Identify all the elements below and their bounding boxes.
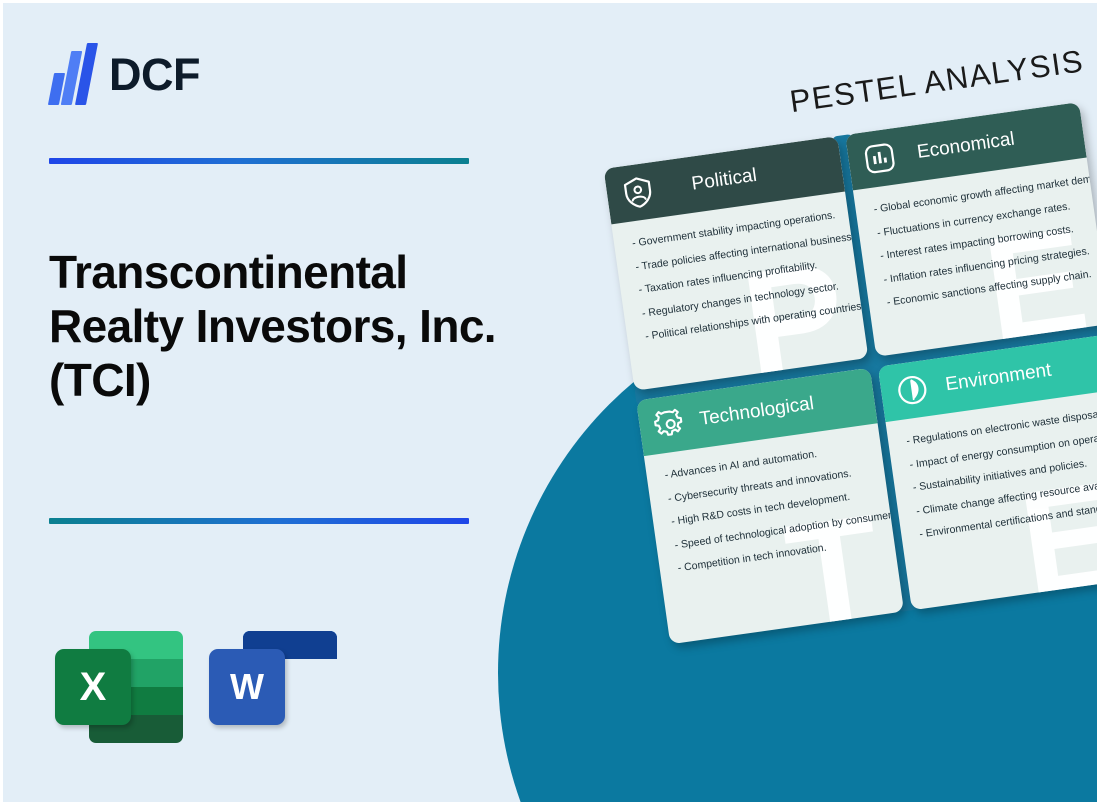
- download-icons: X W: [55, 623, 337, 751]
- pestel-graphic: PESTEL ANALYSIS Political P Government s…: [533, 0, 1100, 682]
- pestel-card-technological[interactable]: Technological T Advances in AI and autom…: [636, 368, 904, 644]
- pestel-card-environment[interactable]: Environment E Regulations on electronic …: [878, 334, 1100, 610]
- card-bullets: Advances in AI and automation. Cybersecu…: [660, 441, 881, 576]
- brand-logo-text: DCF: [109, 52, 200, 97]
- word-file-icon[interactable]: W: [209, 623, 337, 751]
- gear-icon: [652, 405, 690, 443]
- leaf-circle-icon: [893, 371, 931, 409]
- divider-bottom: [49, 518, 469, 524]
- page-title: Transcontinental Realty Investors, Inc. …: [49, 246, 519, 407]
- excel-letter: X: [55, 649, 131, 725]
- dcf-bars-icon: [49, 43, 95, 105]
- card-body: E Regulations on electronic waste dispos…: [886, 389, 1100, 610]
- pestel-card-political[interactable]: Political P Government stability impacti…: [604, 136, 869, 391]
- divider-top: [49, 158, 469, 164]
- pestel-card-economical[interactable]: Economical E Global economic growth affe…: [845, 102, 1100, 357]
- page-root: DCF Transcontinental Realty Investors, I…: [0, 0, 1100, 805]
- card-bullets: Regulations on electronic waste disposal…: [902, 407, 1100, 542]
- word-letter: W: [209, 649, 285, 725]
- brand-logo[interactable]: DCF: [49, 43, 200, 105]
- card-body: P Government stability impacting operati…: [611, 192, 868, 391]
- card-body: T Advances in AI and automation. Cyberse…: [644, 423, 904, 644]
- bar-chart-icon: [861, 139, 899, 177]
- card-bullets: Global economic growth affecting market …: [869, 175, 1090, 310]
- shield-person-icon: [619, 173, 657, 211]
- excel-file-icon[interactable]: X: [55, 623, 183, 751]
- card-body: E Global economic growth affecting marke…: [853, 158, 1100, 357]
- card-bullets: Government stability impacting operation…: [627, 209, 848, 344]
